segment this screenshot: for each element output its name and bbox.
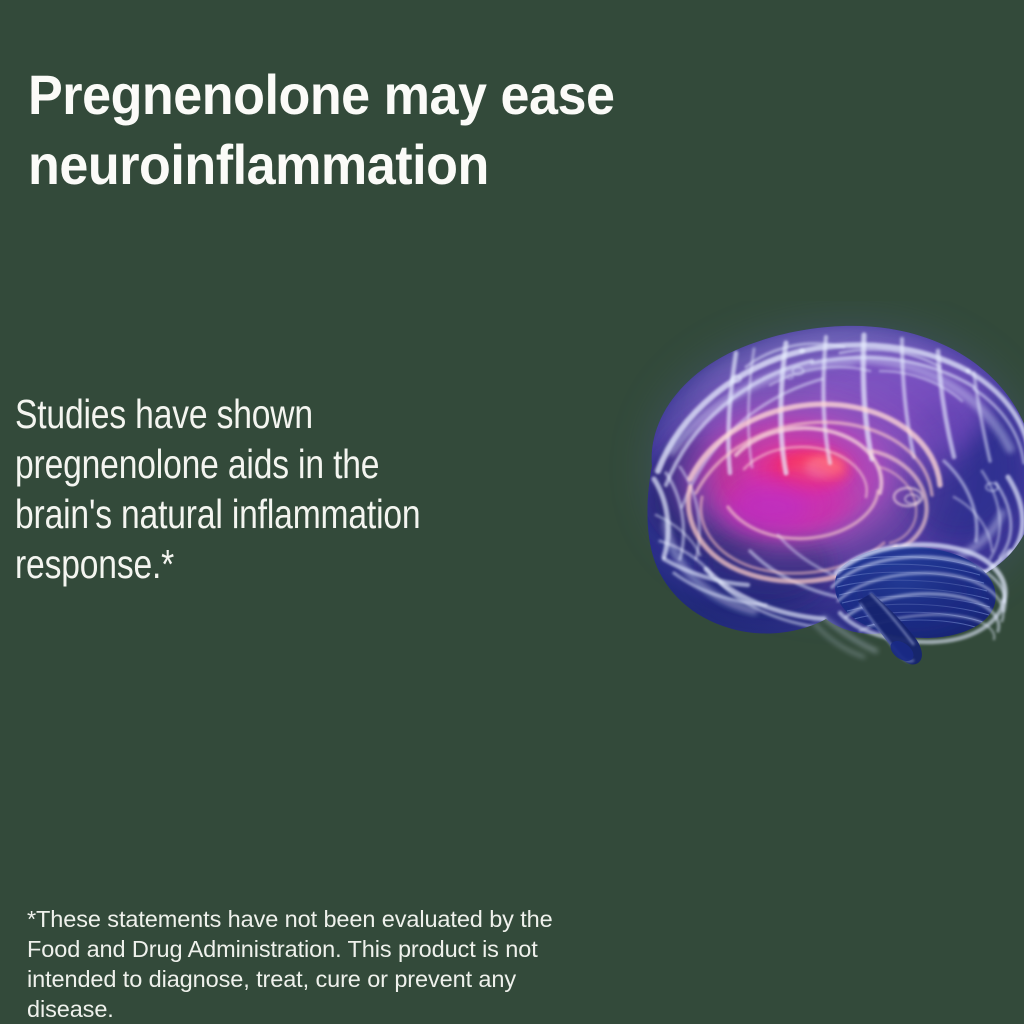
body-copy: Studies have shown pregnenolone aids in … <box>15 389 441 589</box>
fda-disclaimer: *These statements have not been evaluate… <box>27 904 667 1024</box>
page-title: Pregnenolone may ease neuroinflammation <box>28 60 753 200</box>
infographic-canvas: Pregnenolone may ease neuroinflammation … <box>0 0 1024 1024</box>
brain-inflammation-illustration <box>540 301 1024 686</box>
